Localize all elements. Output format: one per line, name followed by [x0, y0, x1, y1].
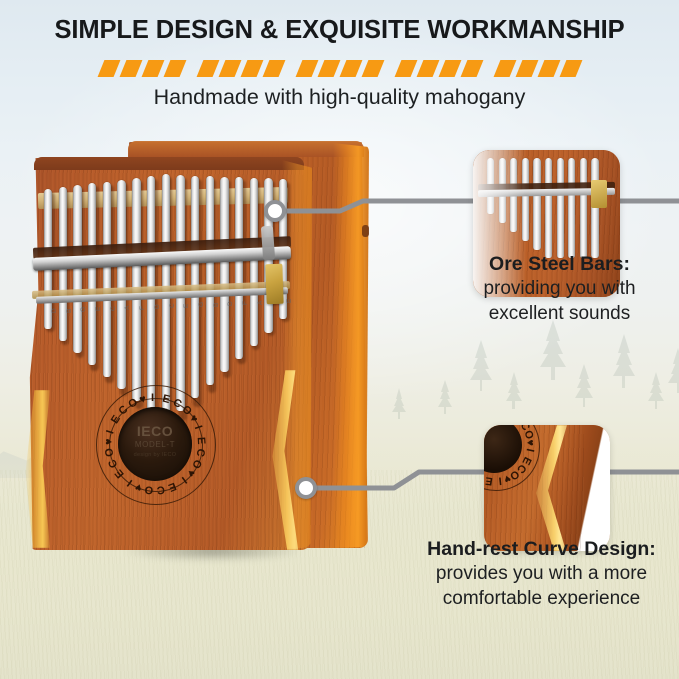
- stripe-bar: [537, 60, 560, 77]
- rear-body-knob: [362, 225, 369, 237]
- stripe-bar: [515, 60, 538, 77]
- stripe-bar: [416, 60, 439, 77]
- tine-note-label: D: [51, 308, 58, 313]
- soundhole-ring-char: ♥: [103, 438, 115, 445]
- stripe-bar: [361, 60, 384, 77]
- stripe-bar: [240, 60, 263, 77]
- inset1-tine: [591, 158, 598, 258]
- inset1-tine: [533, 158, 540, 250]
- callout-marker-hand-rest-curve[interactable]: [295, 477, 317, 499]
- pine-tree: [392, 388, 406, 419]
- callout-text-hand-rest-curve: Hand-rest Curve Design: provides you wit…: [404, 537, 679, 611]
- stripe-bar: [262, 60, 285, 77]
- stripe-bar: [460, 60, 483, 77]
- stripe-bar: [196, 60, 219, 77]
- side-clip: [261, 226, 275, 261]
- soundhole: IECO♥IECO♥IECO♥IECO♥IECO♥ IECO MODEL-T d…: [96, 385, 214, 503]
- pine-tree: [540, 320, 566, 380]
- tine-lower-segment[interactable]: [235, 253, 243, 359]
- soundhole-ring-char: O: [144, 483, 154, 496]
- stripe-bar: [163, 60, 186, 77]
- product-feature-image: SIMPLE DESIGN & EXQUISITE WORKMANSHIP Ha…: [0, 0, 679, 679]
- tine-note-label: F: [242, 301, 249, 305]
- stripe-group: [299, 60, 381, 77]
- stripe-bar: [141, 60, 164, 77]
- tine-note-label: C: [169, 303, 176, 308]
- stripe-bar: [119, 60, 142, 77]
- callout-text-ore-steel-bars: Ore Steel Bars: providing you with excel…: [440, 252, 679, 326]
- rear-body-top-face: [128, 141, 364, 157]
- callout-marker-ore-steel-bars[interactable]: [264, 200, 286, 222]
- stripe-bar: [438, 60, 461, 77]
- pine-tree: [648, 372, 664, 409]
- stripe-bar: [218, 60, 241, 77]
- pine-tree: [505, 372, 522, 409]
- soundhole-subtitle-text: design by IECO: [118, 452, 192, 458]
- inset1-tine: [568, 158, 575, 258]
- pine-tree: [575, 364, 593, 407]
- callout-2-line-2: comfortable experience: [404, 587, 679, 612]
- inset2-ring-char: ♥: [524, 439, 536, 446]
- stripe-group: [101, 60, 183, 77]
- stripe-bar: [493, 60, 516, 77]
- soundhole-logo: IECO: [118, 423, 192, 439]
- tine-note-label: A: [257, 300, 264, 305]
- inset1-tine: [545, 158, 552, 258]
- callout-1-line-1: providing you with: [440, 277, 679, 302]
- inset1-tine: [557, 158, 564, 258]
- tine-note-label: E: [183, 303, 190, 308]
- tine-note-label: F: [139, 305, 146, 309]
- pine-tree: [668, 348, 679, 393]
- inset1-tine: [580, 158, 587, 258]
- stripe-bar: [394, 60, 417, 77]
- page-title: SIMPLE DESIGN & EXQUISITE WORKMANSHIP: [0, 16, 679, 45]
- tine-lower-segment[interactable]: [117, 258, 125, 389]
- pine-tree: [612, 334, 635, 388]
- pine-tree: [437, 380, 452, 414]
- stripe-bar: [97, 60, 120, 77]
- brass-bracket: [265, 264, 283, 305]
- soundhole-ring-char: E: [195, 437, 207, 445]
- page-subtitle: Handmade with high-quality mahogany: [0, 85, 679, 110]
- tine-note-label: G: [198, 302, 205, 307]
- decorative-stripe-divider: [0, 60, 679, 77]
- inset1-brass-bracket: [591, 180, 607, 208]
- tine-note-label: D: [227, 301, 234, 306]
- tine-lower-segment[interactable]: [191, 255, 199, 398]
- tine-note-label: E: [286, 299, 293, 304]
- tine-note-label: B: [213, 302, 220, 307]
- callout-1-title: Ore Steel Bars:: [440, 252, 679, 277]
- tine-note-label: B: [66, 308, 73, 313]
- tine-lower-segment[interactable]: [132, 258, 140, 401]
- callout-2-line-1: provides you with a more: [404, 562, 679, 587]
- soundhole-ring-char: I: [151, 392, 154, 404]
- tine-lower-segment[interactable]: [220, 254, 228, 372]
- stripe-bar: [317, 60, 340, 77]
- stripe-bar: [559, 60, 582, 77]
- inset-handrest-closeup: IECO♥IECO♥IECO♥IECO♥IECO♥: [484, 425, 610, 551]
- soundhole-ring-char: C: [156, 483, 165, 496]
- soundhole-model-text: MODEL-T: [118, 440, 192, 449]
- stripe-group: [200, 60, 282, 77]
- tine-lower-segment[interactable]: [103, 259, 111, 377]
- tine-note-label: G: [80, 307, 87, 312]
- tine-lower-segment[interactable]: [88, 259, 96, 365]
- callout-2-title: Hand-rest Curve Design:: [404, 537, 679, 562]
- stripe-group: [497, 60, 579, 77]
- tine-lower-segment[interactable]: [206, 255, 214, 386]
- callout-1-line-2: excellent sounds: [440, 302, 679, 327]
- rear-body-lit-edge: [333, 143, 369, 547]
- stripe-bar: [339, 60, 362, 77]
- tine-note-label: C: [110, 306, 117, 311]
- soundhole-aperture: IECO MODEL-T design by IECO: [118, 407, 192, 481]
- tine-note-label: A: [124, 306, 131, 311]
- tine-note-label: D: [154, 304, 161, 309]
- stripe-group: [398, 60, 480, 77]
- pine-tree: [470, 340, 492, 391]
- tine-note-label: E: [95, 307, 102, 312]
- stripe-bar: [295, 60, 318, 77]
